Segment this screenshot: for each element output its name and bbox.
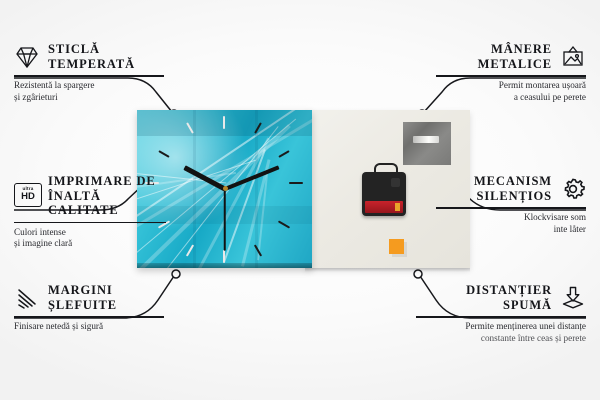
callout-sub-line2: inte låter (436, 224, 586, 235)
callout-sub-line2: constante între ceas și perete (416, 333, 586, 344)
callout-title-line1: MECANISM (474, 174, 552, 189)
clock-mechanism (362, 172, 406, 216)
callout-tempered-glass: STICLĂ TEMPERATĂ Rezistentă la spargere … (14, 42, 164, 103)
callout-polished-edges: MARGINI ȘLEFUITE Finisare netedă și sigu… (14, 283, 164, 333)
picture-frame-hanger-icon (560, 44, 586, 70)
ultra-hd-large-text: HD (21, 192, 35, 202)
callout-sub-line1: Permite menținerea unei distanțe (416, 321, 586, 332)
callout-rule (436, 207, 586, 209)
mechanism-hanging-loop (374, 163, 398, 176)
callout-sub-line1: Klockvisare som (436, 212, 586, 223)
diamond-icon (14, 44, 40, 70)
callout-title-line1: MÂNERE (478, 42, 552, 57)
callout-sub-line2: a ceasului pe perete (436, 92, 586, 103)
callout-sub-line2: și zgârieturi (14, 92, 164, 103)
press-down-pad-icon (560, 285, 586, 311)
callout-rule (416, 316, 586, 318)
callout-metal-handles: MÂNERE METALICE Permit montarea ușoară a… (436, 42, 586, 103)
callout-silent-mechanism: MECANISM SILENȚIOS Klockvisare som inte … (436, 174, 586, 235)
callout-title-line1: DISTANȚIER (466, 283, 552, 298)
callout-title-line1: MARGINI (48, 283, 117, 298)
callout-title-line2: ȘLEFUITE (48, 298, 117, 313)
hanger-slot (413, 136, 439, 143)
callout-sub-line1: Culori intense (14, 227, 166, 238)
hands-center-hub (223, 186, 228, 191)
callout-sub-line1: Permit montarea ușoară (436, 80, 586, 91)
callout-title-line1: STICLĂ (48, 42, 135, 57)
callout-sub-line1: Rezistentă la spargere (14, 80, 164, 91)
callout-sub-line2: și imagine clară (14, 238, 166, 249)
callout-rule (14, 316, 164, 318)
battery (365, 201, 403, 213)
callout-rule (14, 75, 164, 77)
callout-title-line2: SILENȚIOS (474, 189, 552, 204)
ultra-hd-icon: ultra HD (14, 183, 40, 209)
callout-sub-line1: Finisare netedă și sigură (14, 321, 164, 332)
metal-hanger-plate (403, 122, 451, 165)
callout-rule (14, 222, 166, 224)
callout-title-line2: SPUMĂ (466, 298, 552, 313)
callout-rule (436, 75, 586, 77)
callout-title-line2: ÎNALTĂ CALITATE (48, 189, 166, 218)
second-hand (224, 189, 226, 251)
infographic-stage: STICLĂ TEMPERATĂ Rezistentă la spargere … (0, 0, 600, 400)
callout-print-quality: ultra HD IMPRIMARE DE ÎNALTĂ CALITATE Cu… (14, 174, 166, 249)
mechanism-knob (391, 178, 400, 187)
callout-title-line1: IMPRIMARE DE (48, 174, 166, 189)
diagonal-lines-icon (14, 285, 40, 311)
product-image (137, 110, 470, 270)
callout-title-line2: TEMPERATĂ (48, 57, 135, 72)
callout-title-line2: METALICE (478, 57, 552, 72)
foam-spacer-pad (389, 239, 404, 254)
callout-foam-spacer: DISTANȚIER SPUMĂ Permite menținerea unei… (416, 283, 586, 344)
gear-icon (560, 176, 586, 202)
